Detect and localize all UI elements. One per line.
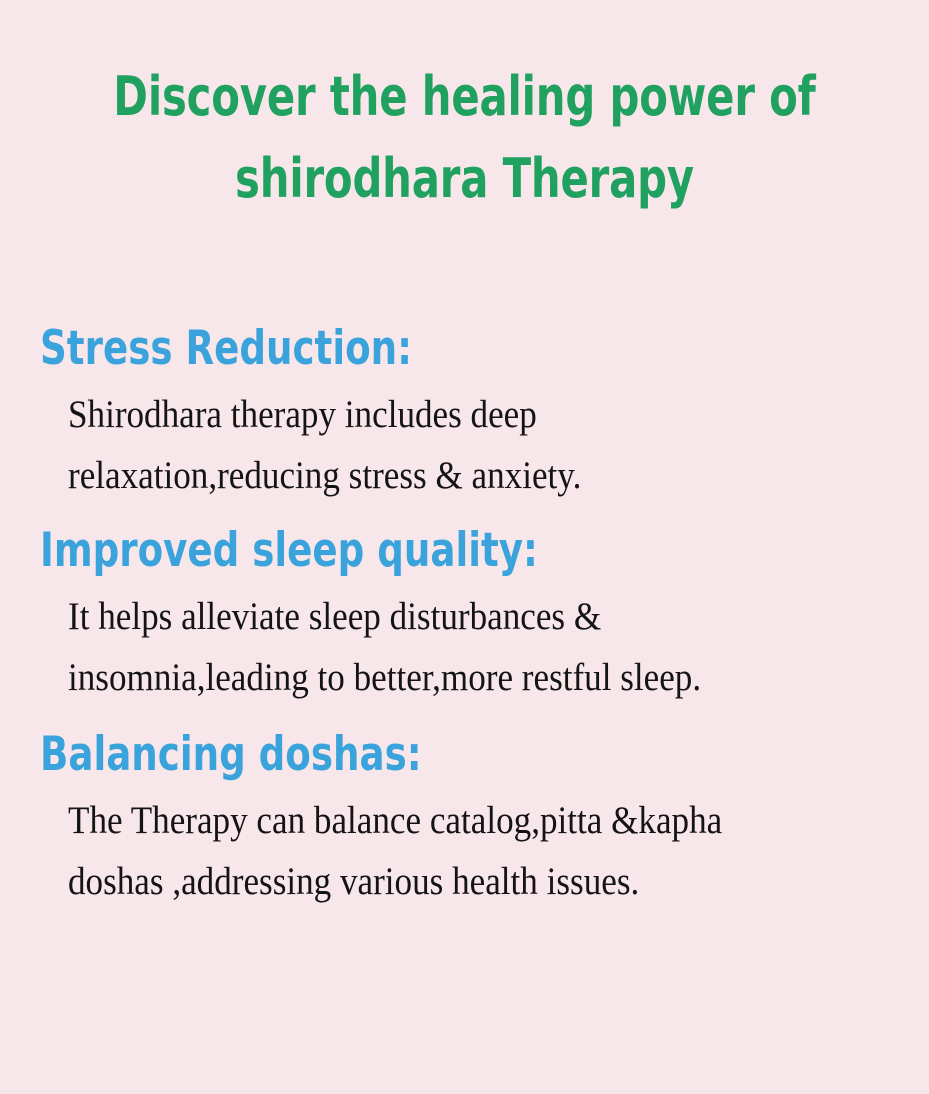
benefit-body-improved-sleep-quality: It helps alleviate sleep disturbances & …: [68, 586, 860, 708]
benefit-section-improved-sleep-quality: Improved sleep quality: It helps allevia…: [0, 520, 929, 708]
benefits-list: Stress Reduction: Shirodhara therapy inc…: [0, 318, 929, 912]
benefit-heading-improved-sleep-quality: Improved sleep quality:: [40, 520, 822, 582]
benefit-heading-stress-reduction: Stress Reduction:: [40, 318, 822, 380]
benefit-body-stress-reduction: Shirodhara therapy includes deep relaxat…: [68, 384, 860, 506]
benefit-heading-balancing-doshas: Balancing doshas:: [40, 724, 822, 786]
benefit-section-balancing-doshas: Balancing doshas: The Therapy can balanc…: [0, 724, 929, 912]
page-title-line-2: shirodhara Therapy: [65, 138, 864, 220]
poster-canvas: Discover the healing power of shirodhara…: [0, 0, 929, 1094]
page-title: Discover the healing power of shirodhara…: [0, 56, 929, 220]
benefit-section-stress-reduction: Stress Reduction: Shirodhara therapy inc…: [0, 318, 929, 506]
page-title-line-1: Discover the healing power of: [65, 56, 864, 138]
benefit-body-balancing-doshas: The Therapy can balance catalog,pitta &k…: [68, 790, 860, 912]
